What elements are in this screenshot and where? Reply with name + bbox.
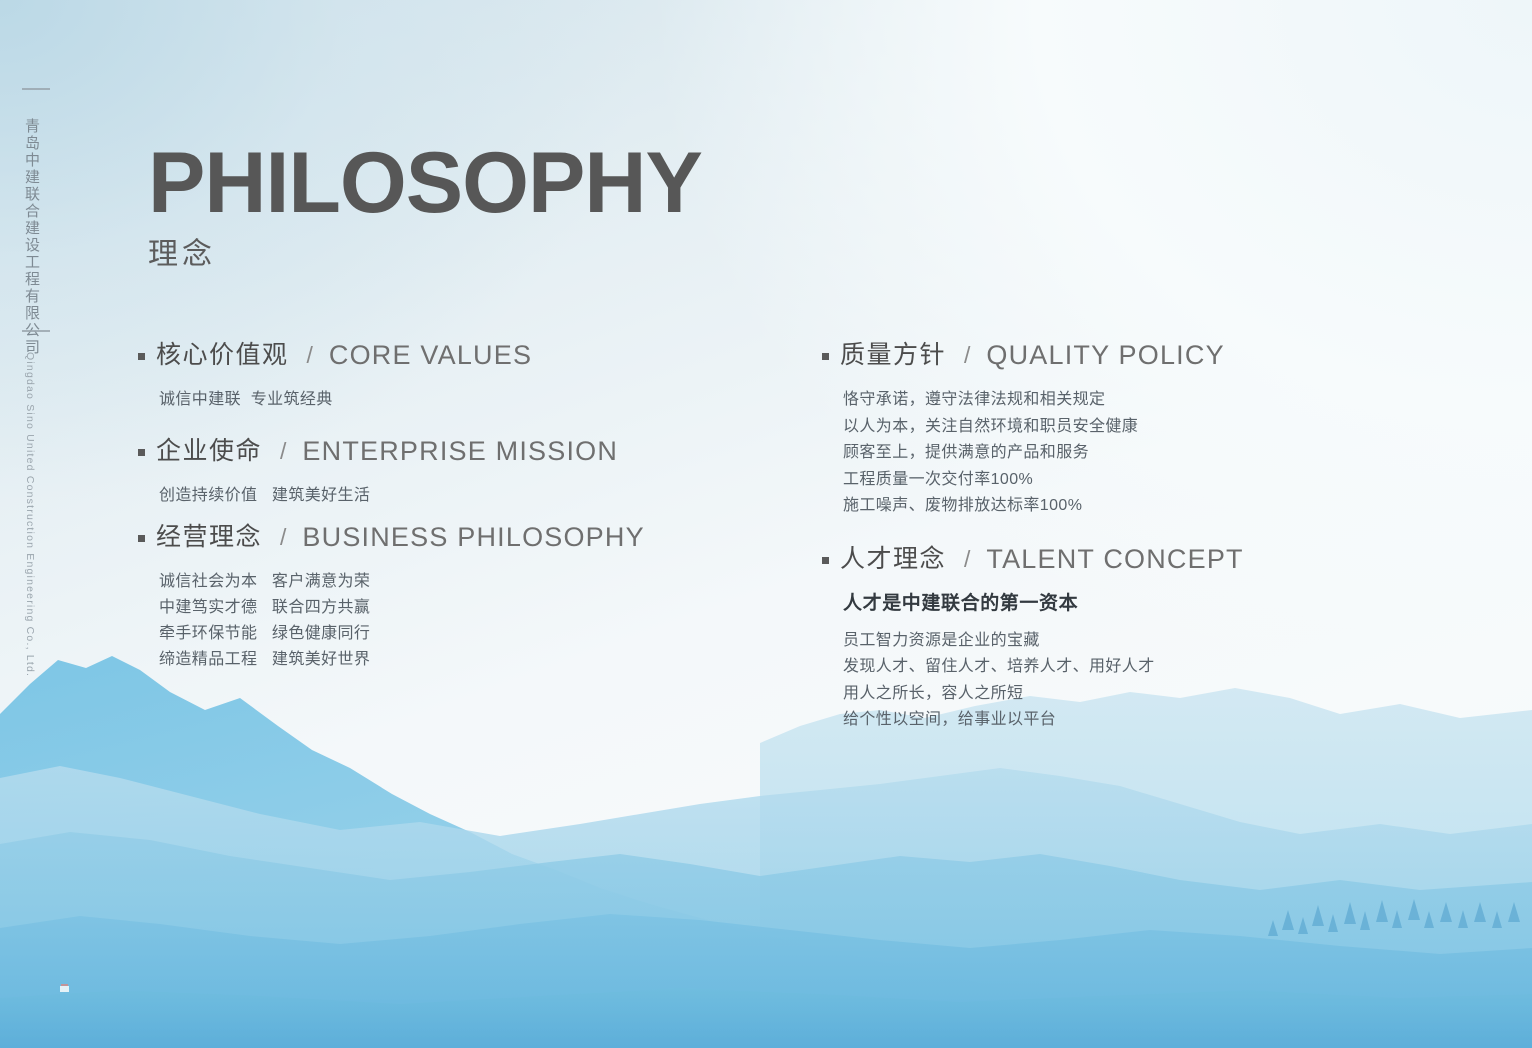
heading-en: TALENT CONCEPT	[986, 546, 1243, 573]
body-line: 顾客至上，提供满意的产品和服务	[843, 440, 1225, 467]
square-bullet-icon	[138, 535, 145, 542]
body-line: 发现人才、留住人才、培养人才、用好人才	[843, 654, 1244, 681]
heading-cn: 质量方针	[840, 343, 946, 368]
section-heading: 人才理念 / TALENT CONCEPT	[822, 546, 1244, 573]
section-heading: 经营理念 / BUSINESS PHILOSOPHY	[138, 524, 645, 551]
body-line: 牵手环保节能 绿色健康同行	[159, 621, 645, 647]
body-line: 给个性以空间，给事业以平台	[843, 707, 1244, 734]
section-heading: 核心价值观 / CORE VALUES	[138, 342, 532, 369]
heading-cn: 核心价值观	[156, 343, 289, 368]
heading-separator: /	[280, 526, 286, 549]
section-talent-concept: 人才理念 / TALENT CONCEPT 人才是中建联合的第一资本 员工智力资…	[822, 546, 1244, 734]
square-bullet-icon	[138, 449, 145, 456]
mountain-ridge-far-right	[760, 688, 1532, 1048]
mountain-ridge-mid	[0, 766, 1532, 1048]
heading-cn: 企业使命	[156, 439, 262, 464]
mountain-ridge-foreground	[0, 988, 1532, 1048]
section-body: 创造持续价值 建筑美好生活	[138, 483, 618, 509]
page-title-chinese: 理念	[148, 240, 702, 270]
heading-en: BUSINESS PHILOSOPHY	[302, 524, 644, 551]
heading-en: ENTERPRISE MISSION	[302, 438, 618, 465]
body-line: 缔造精品工程 建筑美好世界	[159, 647, 645, 673]
slide-canvas: 青岛中建联合建设工程有限公司 Qingdao Sino United Const…	[0, 0, 1532, 1048]
section-core-values: 核心价值观 / CORE VALUES 诚信中建联 专业筑经典	[138, 342, 532, 413]
section-business-philosophy: 经营理念 / BUSINESS PHILOSOPHY 诚信社会为本 客户满意为荣…	[138, 524, 645, 673]
section-quality-policy: 质量方针 / QUALITY POLICY 恪守承诺，遵守法律法规和相关规定 以…	[822, 342, 1225, 520]
heading-separator: /	[964, 548, 970, 571]
heading-cn: 人才理念	[840, 547, 946, 572]
company-name-en: Qingdao Sino United Construction Enginee…	[24, 352, 36, 677]
body-line: 以人为本，关注自然环境和职员安全健康	[843, 414, 1225, 441]
section-body: 恪守承诺，遵守法律法规和相关规定 以人为本，关注自然环境和职员安全健康 顾客至上…	[822, 387, 1225, 520]
body-line: 诚信中建联 专业筑经典	[159, 387, 532, 413]
body-line: 施工噪声、废物排放达标率100%	[843, 493, 1225, 520]
band-dash-middle	[22, 330, 50, 332]
heading-en: CORE VALUES	[329, 342, 532, 369]
body-line: 诚信社会为本 客户满意为荣	[159, 569, 645, 595]
heading-separator: /	[964, 344, 970, 367]
company-name-cn: 青岛中建联合建设工程有限公司	[24, 118, 39, 356]
square-bullet-icon	[822, 557, 829, 564]
conifer-tree-cluster	[1268, 899, 1520, 936]
section-heading: 企业使命 / ENTERPRISE MISSION	[138, 438, 618, 465]
mountain-ridge-left-main	[0, 656, 1532, 1048]
company-vertical-band: 青岛中建联合建设工程有限公司 Qingdao Sino United Const…	[0, 0, 92, 1048]
heading-separator: /	[307, 344, 313, 367]
mountain-ridge-front	[0, 914, 1532, 1048]
page-title-block: PHILOSOPHY 理念	[148, 140, 702, 270]
heading-en: QUALITY POLICY	[986, 342, 1224, 369]
square-bullet-icon	[138, 353, 145, 360]
section-body: 诚信中建联 专业筑经典	[138, 387, 532, 413]
mountain-layers-svg	[0, 618, 1532, 1048]
body-line: 工程质量一次交付率100%	[843, 467, 1225, 494]
body-line: 创造持续价值 建筑美好生活	[159, 483, 618, 509]
heading-separator: /	[280, 440, 286, 463]
body-line-emphasis: 人才是中建联合的第一资本	[843, 591, 1244, 618]
mountain-ridge-near	[0, 832, 1532, 1048]
body-line: 员工智力资源是企业的宝藏	[843, 628, 1244, 655]
section-heading: 质量方针 / QUALITY POLICY	[822, 342, 1225, 369]
body-line: 用人之所长，容人之所短	[843, 681, 1244, 708]
section-enterprise-mission: 企业使命 / ENTERPRISE MISSION 创造持续价值 建筑美好生活	[138, 438, 618, 509]
section-body: 人才是中建联合的第一资本 员工智力资源是企业的宝藏 发现人才、留住人才、培养人才…	[822, 591, 1244, 734]
band-dash-top	[22, 88, 50, 90]
body-line: 恪守承诺，遵守法律法规和相关规定	[843, 387, 1225, 414]
section-body: 诚信社会为本 客户满意为荣 中建笃实才德 联合四方共赢 牵手环保节能 绿色健康同…	[138, 569, 645, 673]
body-line: 中建笃实才德 联合四方共赢	[159, 595, 645, 621]
page-title-english: PHILOSOPHY	[148, 140, 702, 226]
heading-cn: 经营理念	[156, 525, 262, 550]
mountain-scenery-background	[0, 618, 1532, 1048]
square-bullet-icon	[822, 353, 829, 360]
